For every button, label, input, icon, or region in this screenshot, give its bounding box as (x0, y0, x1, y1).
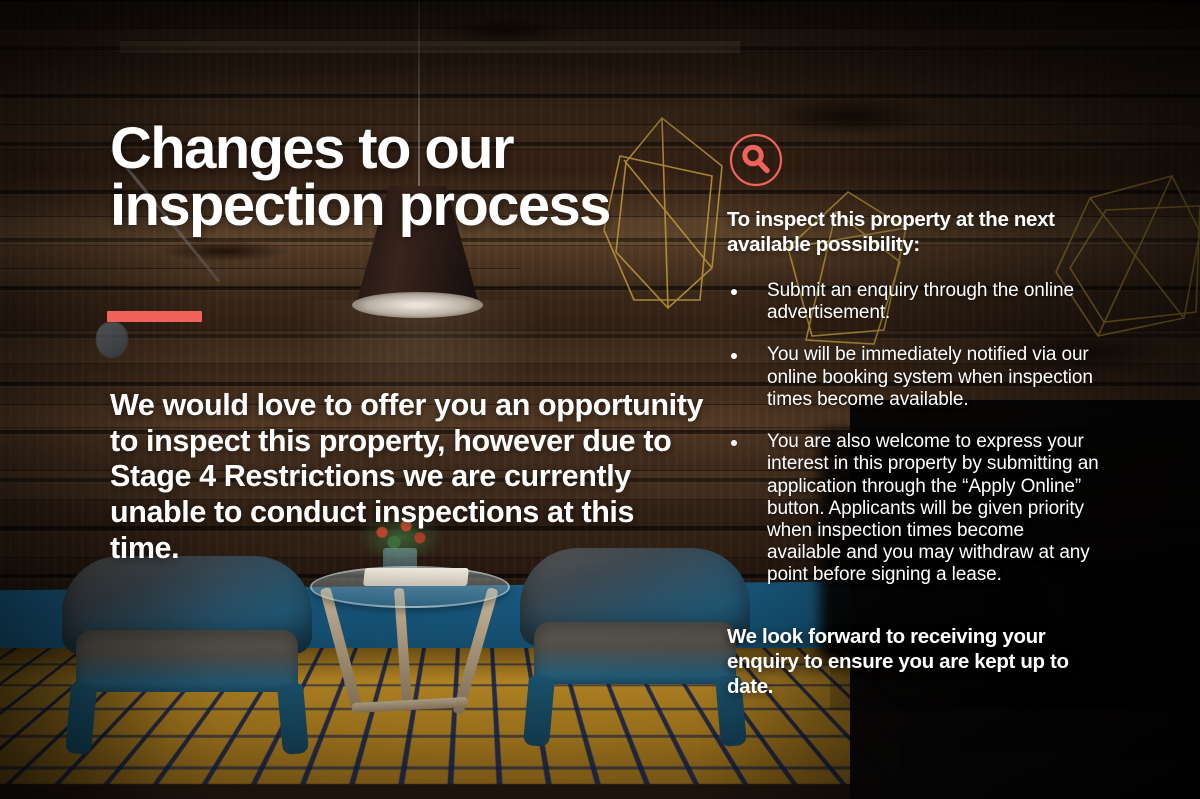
list-item: You are also welcome to express your int… (727, 431, 1099, 587)
right-column-heading: To inspect this property at the next ava… (727, 208, 1087, 257)
search-icon-glyph (729, 133, 783, 187)
poster-content: Changes to our inspection process We wou… (0, 0, 1200, 799)
list-item: Submit an enquiry through the online adv… (727, 280, 1099, 324)
bullet-list: Submit an enquiry through the online adv… (727, 280, 1099, 607)
page-title: Changes to our inspection process (110, 121, 710, 235)
closing-paragraph: We look forward to receiving your enquir… (727, 624, 1087, 699)
list-item: You will be immediately notified via our… (727, 344, 1099, 411)
body-paragraph: We would love to offer you an opportunit… (110, 388, 710, 566)
inspection-process-poster: Changes to our inspection process We wou… (0, 0, 1200, 799)
accent-underline-bar (107, 311, 202, 322)
search-icon (729, 133, 783, 187)
